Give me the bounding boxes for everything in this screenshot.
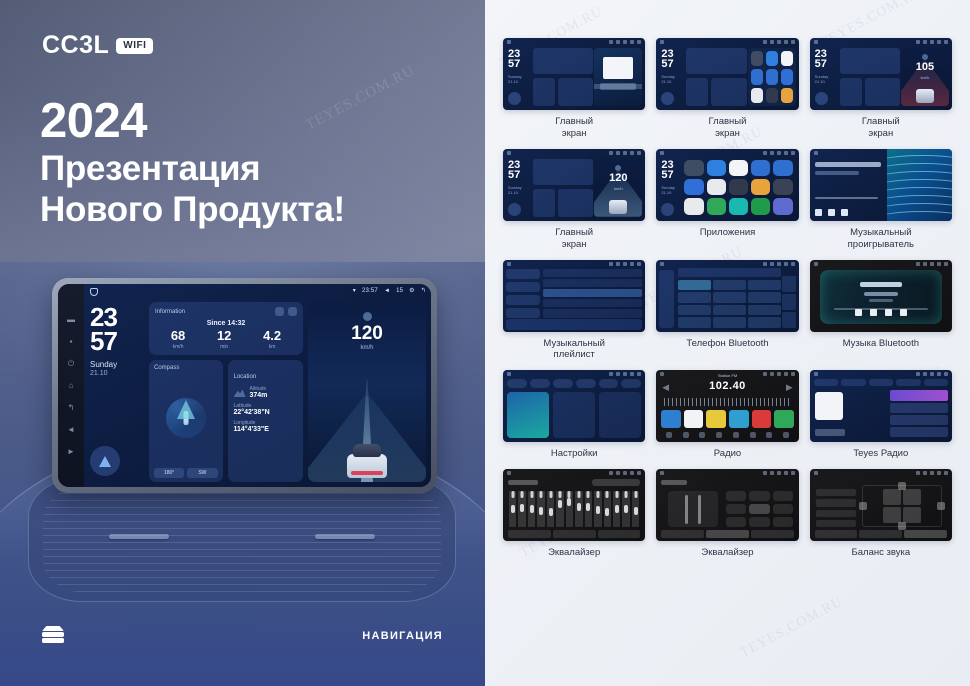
app-icon[interactable] [729,160,748,176]
volume-icon [623,471,627,475]
eq-tab[interactable] [661,530,704,538]
app-icon[interactable] [684,198,703,214]
app-icon[interactable] [707,160,726,176]
balance-tab[interactable] [859,530,902,538]
next-icon[interactable] [841,209,848,216]
toolbar-icon[interactable] [750,432,756,438]
equalizer-band[interactable] [613,491,620,527]
app-icon[interactable] [751,69,763,84]
toolbar-icon[interactable] [666,432,672,438]
car-dashboard: ▬ ▪ ⏻ ⌂ ↰ ◄ ► ▾ 23:57 ◄ [0,262,485,686]
information-card[interactable]: Information Since 14:32 [149,302,303,355]
volume-icon [930,262,934,266]
equalizer-handle[interactable] [586,503,590,511]
speed-icon [615,165,621,171]
equalizer-band[interactable] [575,491,582,527]
app-drawer[interactable] [682,158,794,217]
dialpad-key[interactable] [713,292,746,303]
preset-label [661,480,687,485]
phone-sidebar[interactable] [659,270,674,328]
stat-value: 4.2 [263,329,281,342]
balance-down-button[interactable] [898,522,906,530]
location-card[interactable]: Location Altitude 374m [228,360,304,482]
screenshot-gallery: TEYES.COM.RU TEYES.COM.RU TEYES.COM.RU T… [485,0,970,686]
frequency-scale[interactable] [664,398,790,406]
thumb-status-bar [507,40,641,45]
gallery-item[interactable]: Station FM 102.40 Радио [656,370,798,460]
navigation-arrow-icon[interactable] [508,203,521,216]
navigation-widget[interactable]: 120 km/h [594,159,642,217]
power-icon[interactable]: ⏻ [67,359,76,368]
screenshot-thumbnail[interactable] [503,469,645,541]
settings-tab[interactable] [507,379,527,388]
preset-button[interactable] [773,517,793,527]
transport-controls[interactable] [815,209,848,216]
teyes-tab[interactable] [896,379,920,386]
navigation-widget[interactable]: 105 km/h [901,48,949,106]
gallery-item[interactable]: Настройки [503,370,645,460]
app-icon[interactable] [773,179,792,195]
settings-tab[interactable] [530,379,550,388]
audio-tabs[interactable] [815,530,947,538]
equalizer-band[interactable] [585,491,592,527]
screenshot-thumbnail[interactable]: 2357 Sunday21.10 [503,38,645,110]
app-shortcuts[interactable] [748,48,796,106]
media-widget[interactable] [594,48,642,106]
thumbnail-caption: Музыкальныйпроигрыватель [848,227,914,251]
back-icon [637,151,641,155]
app-icon[interactable] [751,51,763,66]
app-icon[interactable] [766,88,778,103]
wifi-settings-card[interactable] [507,392,549,438]
app-icon[interactable] [707,179,726,195]
screenshot-thumbnail[interactable]: Station FM 102.40 [656,370,798,442]
status-time: 23:57 [362,288,378,294]
sound-tab[interactable] [904,530,947,538]
album-art [603,57,633,79]
preset-buttons[interactable] [592,479,640,486]
settings-tab[interactable] [599,379,619,388]
balance-tab[interactable] [553,530,596,538]
teyes-tab[interactable] [841,379,865,386]
preset-button[interactable] [749,491,769,501]
back-icon [791,471,795,475]
head-unit-screen[interactable]: ▾ 23:57 ◄ 15 ⚙ ↰ 23 57 [84,284,431,487]
list-item[interactable] [543,299,642,307]
list-item[interactable] [543,279,642,287]
equalizer-band[interactable] [604,491,611,527]
back-icon [944,40,948,44]
app-icon[interactable] [684,160,703,176]
gallery-item[interactable]: 2357 Sunday21.10 Приложения [656,149,798,251]
contacts-icon[interactable] [782,294,796,310]
preset-button[interactable] [726,504,746,514]
preset-button[interactable] [726,517,746,527]
speaker-rear-left[interactable] [883,507,901,523]
toolbar-icon[interactable] [733,432,739,438]
progress-bar[interactable] [815,197,878,199]
balance-up-button[interactable] [898,482,906,490]
thumb-status-bar [814,372,948,377]
preset-button[interactable] [816,499,856,506]
app-icon[interactable] [773,160,792,176]
equalizer-handle[interactable] [567,498,571,506]
dialpad-key[interactable] [748,317,781,328]
sidebar-item[interactable] [506,308,540,318]
balance-field[interactable] [862,485,942,527]
preset-button[interactable] [816,510,856,517]
navigation-arrow-icon[interactable] [661,203,674,216]
app-icon[interactable] [751,88,763,103]
gallery-item[interactable]: 2357 Sunday21.10 Главныйэкран [503,38,645,140]
thumb-clock: 2357 [508,161,520,181]
toolbar-icon[interactable] [699,432,705,438]
clock-icon [923,262,927,266]
equalizer-handle[interactable] [520,504,524,512]
transport-controls[interactable] [600,83,636,90]
equalizer-handle[interactable] [549,508,553,516]
teyes-tab[interactable] [869,379,893,386]
equalizer-handle[interactable] [605,508,609,516]
station-preset[interactable] [706,410,726,428]
phone-actions[interactable] [782,276,796,328]
screenshot-thumbnail[interactable] [503,370,645,442]
equalizer-band[interactable] [509,491,516,527]
call-icon[interactable] [782,312,796,328]
app-icon[interactable] [707,198,726,214]
dialpad[interactable] [678,280,780,328]
settings-tab[interactable] [576,379,596,388]
gallery-item[interactable]: Телефон Bluetooth [656,260,798,362]
eq-tab[interactable] [508,530,551,538]
home-icon[interactable] [90,288,98,296]
gallery-item[interactable]: Баланс звука [810,469,952,559]
equalizer-band[interactable] [594,491,601,527]
equalizer-handle[interactable] [577,503,581,511]
equalizer-band[interactable] [518,491,525,527]
station-preset[interactable] [729,410,749,428]
clock-icon [616,372,620,376]
speaker-front-right[interactable] [903,489,921,505]
clock-icon [616,151,620,155]
app-icon[interactable] [766,51,778,66]
thumb-status-bar [660,262,794,267]
wifi-icon [609,151,613,155]
equalizer-handle[interactable] [539,507,543,515]
gear-icon [937,471,941,475]
balance-presets[interactable] [816,489,856,527]
preset-button[interactable] [749,504,769,514]
transport-controls[interactable] [815,429,845,436]
equalizer-band[interactable] [547,491,554,527]
radio-frequency: 102.40 [656,380,798,392]
dialpad-key[interactable] [678,317,711,328]
thumb-status-bar [507,372,641,377]
play-pause-icon[interactable] [870,309,877,316]
vent-slot-right [315,534,375,539]
preset-button[interactable] [773,504,793,514]
equalizer-band[interactable] [622,491,629,527]
equalizer-band[interactable] [632,491,639,527]
equalizer-handle[interactable] [634,507,638,515]
speaker-grid[interactable] [883,489,921,523]
head-unit: ▬ ▪ ⏻ ⌂ ↰ ◄ ► ▾ 23:57 ◄ [58,284,431,487]
sidebar-item[interactable] [506,282,540,292]
volume-down-icon[interactable]: ◄ [67,425,76,434]
balance-right-button[interactable] [937,502,945,510]
mic-icon[interactable]: ▪ [67,337,76,346]
gear-icon [630,262,634,266]
screenshot-thumbnail[interactable] [503,260,645,332]
eq-tab[interactable] [815,530,858,538]
preset-grid[interactable] [726,491,792,527]
app-icon[interactable] [781,51,793,66]
display-settings-card[interactable] [553,392,595,438]
home-icon [660,151,664,155]
list-item[interactable] [543,309,642,317]
compass-card[interactable]: Compass 180° SW [149,360,223,482]
settings-tabs[interactable] [507,379,641,388]
settings-tab[interactable] [553,379,573,388]
gallery-item[interactable]: 2357 Sunday21.10 120 km/h Главныйэкран [503,149,645,251]
teyes-tab[interactable] [814,379,838,386]
sound-tab[interactable] [598,530,641,538]
speed-icon [363,312,372,321]
gear-icon [937,372,941,376]
equalizer-bands[interactable] [509,491,639,527]
previous-icon[interactable] [815,209,822,216]
home-icon [660,40,664,44]
equalizer-handle[interactable] [624,505,628,513]
gallery-item[interactable]: Музыка Bluetooth [810,260,952,362]
equalizer-band[interactable] [566,491,573,527]
visualizer [887,149,952,221]
speaker-front-left[interactable] [883,489,901,505]
gallery-item[interactable]: Музыкальныйплейлист [503,260,645,362]
gallery-item[interactable]: Эквалайзер [656,469,798,559]
list-item[interactable] [543,289,642,297]
bass-treble-sliders[interactable] [668,491,718,527]
station-preset[interactable] [684,410,704,428]
equalizer-band[interactable] [556,491,563,527]
speed-readout: 120 km/h [594,165,642,191]
back-icon[interactable]: ↰ [421,287,426,294]
gallery-item[interactable]: 2357 Sunday21.10 105 km/h Главныйэкран [810,38,952,140]
home-icon [660,262,664,266]
screenshot-thumbnail[interactable] [810,149,952,221]
track-list[interactable] [543,269,642,318]
back-icon[interactable]: ↰ [67,403,76,412]
gear-icon [937,40,941,44]
navigation-widget[interactable]: 120 km/h [308,302,426,482]
app-icon[interactable] [684,179,703,195]
thumb-clock: 2357 [815,50,827,70]
widgets-column: Information Since 14:32 [149,302,303,482]
app-icon[interactable] [766,69,778,84]
list-item[interactable] [890,403,948,413]
sound-tab[interactable] [751,530,794,538]
screenshot-thumbnail[interactable]: 2357 Sunday21.10 120 km/h [503,149,645,221]
slider[interactable] [685,495,688,524]
toolbar-icon[interactable] [766,432,772,438]
navigation-arrow-icon[interactable] [661,92,674,105]
toolbar-icon[interactable] [683,432,689,438]
teyes-tabs[interactable] [814,379,948,386]
thumbnail-caption: Музыка Bluetooth [843,338,919,350]
screenshot-thumbnail[interactable]: 2357 Sunday21.10 [656,149,798,221]
equalizer-band[interactable] [537,491,544,527]
information-card-actions[interactable] [275,307,297,316]
navigation-arrow-icon[interactable] [90,446,120,476]
information-title: Information [155,309,185,315]
home-icon [814,471,818,475]
screenshot-thumbnail[interactable]: 2357 Sunday21.10 105 km/h [810,38,952,110]
favorite-icon[interactable] [782,276,796,292]
dialpad-key[interactable] [713,317,746,328]
audio-tabs[interactable] [661,530,793,538]
thumbnail-caption: Главныйэкран [862,116,900,140]
menu-icon[interactable]: ▬ [67,315,76,324]
teyes-track-list[interactable] [890,390,948,437]
car-graphic [916,89,934,103]
previous-icon[interactable] [855,309,862,316]
gallery-item[interactable]: Музыкальныйпроигрыватель [810,149,952,251]
clock-icon [616,471,620,475]
list-item[interactable] [890,415,948,425]
preset-button[interactable] [773,491,793,501]
slider[interactable] [698,495,701,524]
dialpad-key[interactable] [678,280,711,291]
equalizer-handle[interactable] [596,506,600,514]
home-icon [660,471,664,475]
balance-tab[interactable] [706,530,749,538]
app-icon[interactable] [751,198,770,214]
gallery-item[interactable]: Teyes Радио [810,370,952,460]
station-preset[interactable] [752,410,772,428]
page-title: 2024 Презентация Нового Продукта! [40,95,345,231]
volume-up-icon[interactable]: ► [67,447,76,456]
sidebar-item[interactable] [506,295,540,305]
app-icon[interactable] [781,88,793,103]
screenshot-thumbnail[interactable] [810,260,952,332]
equalizer-handle[interactable] [511,505,515,513]
app-icon[interactable] [729,179,748,195]
settings-cards[interactable] [507,392,641,438]
gallery-item[interactable]: 2357 Sunday21.10 Главныйэкран [656,38,798,140]
dialpad-key[interactable] [748,305,781,316]
app-icon[interactable] [773,198,792,214]
station-preset[interactable] [661,410,681,428]
dialpad-key[interactable] [713,280,746,291]
balance-left-button[interactable] [859,502,867,510]
wifi-icon [609,471,613,475]
audio-tabs[interactable] [508,530,640,538]
navigation-arrow-icon[interactable] [815,92,828,105]
sidebar-item[interactable] [506,269,540,279]
teyes-tab[interactable] [924,379,948,386]
playlist-sidebar[interactable] [506,269,540,318]
gear-icon[interactable]: ⚙ [409,287,415,294]
preset-button[interactable] [816,520,856,527]
dial-input[interactable] [678,268,780,277]
list-item[interactable] [890,427,948,437]
thumbnail-caption: Приложения [700,227,756,239]
app-icon[interactable] [751,160,770,176]
head-unit-bezel: ▬ ▪ ⏻ ⌂ ↰ ◄ ► ▾ 23:57 ◄ [52,278,437,493]
preset-button[interactable] [726,491,746,501]
speaker-rear-right[interactable] [903,507,921,523]
station-preset[interactable] [774,410,794,428]
dialpad-key[interactable] [748,280,781,291]
dialpad-key[interactable] [678,292,711,303]
app-icon[interactable] [729,198,748,214]
equalizer-handle[interactable] [615,505,619,513]
stop-icon[interactable] [885,309,892,316]
thumb-clock-sub: Sunday21.10 [661,185,675,195]
screenshot-thumbnail[interactable] [810,370,952,442]
screenshot-thumbnail[interactable] [656,260,798,332]
album-art [815,392,843,420]
information-since: Since 14:32 [155,320,297,327]
equalizer-handle[interactable] [558,500,562,508]
gallery-item[interactable]: Эквалайзер [503,469,645,559]
dialpad-key[interactable] [748,292,781,303]
home-icon[interactable]: ⌂ [67,381,76,390]
more-settings-card[interactable] [599,392,641,438]
stat-unit: min [217,344,231,350]
radio-toolbar[interactable] [660,431,794,439]
settings-tab[interactable] [621,379,641,388]
gear-icon [784,262,788,266]
toolbar-icon[interactable] [716,432,722,438]
now-playing-bar[interactable] [506,319,642,330]
screenshot-thumbnail[interactable]: 2357 Sunday21.10 [656,38,798,110]
pause-icon[interactable] [828,209,835,216]
clock-icon [616,262,620,266]
home-icon [814,372,818,376]
dialpad-key[interactable] [713,305,746,316]
app-icon[interactable] [751,179,770,195]
toolbar-icon[interactable] [783,432,789,438]
speed-unit: km/h [901,75,949,80]
preset-button[interactable] [816,489,856,496]
equalizer-band[interactable] [528,491,535,527]
head-unit-button-rail[interactable]: ▬ ▪ ⏻ ⌂ ↰ ◄ ► [58,284,84,487]
bluetooth-title [860,282,902,287]
speed-icon [922,54,928,60]
refresh-icon[interactable] [275,307,284,316]
altitude-row: Altitude 374m [234,386,298,399]
next-icon[interactable] [900,309,907,316]
expand-icon[interactable] [288,307,297,316]
thumb-status-bar [507,471,641,476]
app-icon[interactable] [781,69,793,84]
equalizer-handle[interactable] [530,505,534,513]
wifi-icon: ▾ [353,287,356,294]
station-presets[interactable] [661,410,793,428]
thumb-clock: 2357 [508,50,520,70]
preset-button[interactable] [749,517,769,527]
layers-icon [42,626,64,644]
transport-controls[interactable] [820,309,942,316]
screenshot-thumbnail[interactable] [810,469,952,541]
car-window [353,444,381,457]
dialpad-key[interactable] [678,305,711,316]
navigation-arrow-icon[interactable] [508,92,521,105]
list-item[interactable] [890,390,948,400]
screenshot-thumbnail[interactable] [656,469,798,541]
location-card [558,78,593,106]
